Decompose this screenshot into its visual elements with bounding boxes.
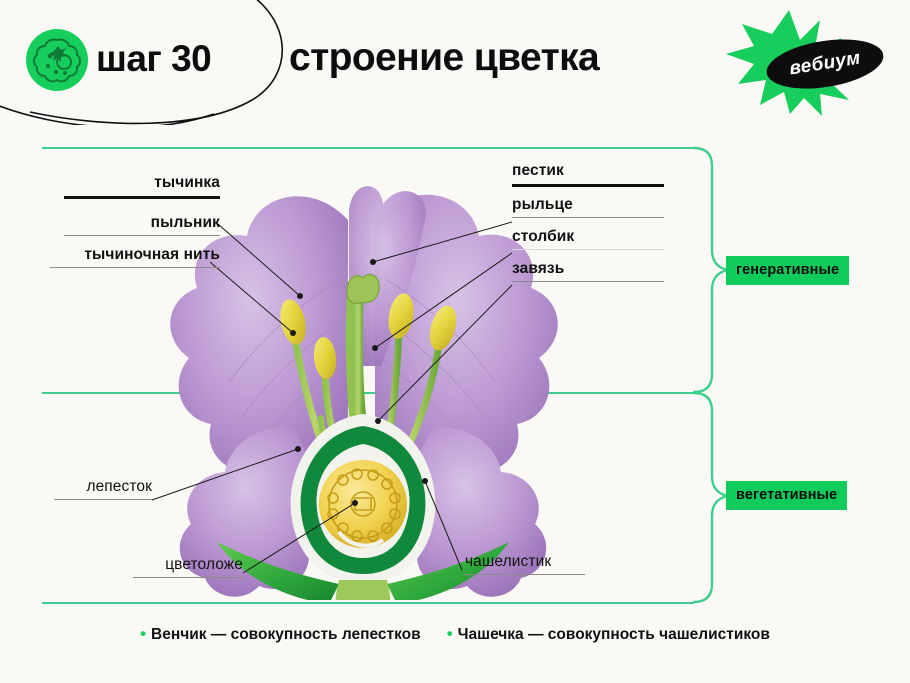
callout-sepal-label: чашелистик (465, 553, 551, 570)
step-label: шаг 30 (96, 38, 211, 80)
footer-note-corolla: • Венчик — совокупность лепестков (140, 625, 421, 644)
frame-rule-bottom (42, 602, 694, 604)
callout-receptacle: цветоложе (133, 556, 243, 578)
badge-vegetative: вегетативные (726, 481, 847, 510)
callout-petal-rule (54, 499, 152, 500)
callout-stigma-rule (512, 217, 664, 218)
callout-filament-label: тычиночная нить (84, 246, 220, 263)
callout-petal-label: лепесток (86, 478, 152, 495)
slide-root: шаг 30 строение цветка вебиум (0, 0, 910, 683)
callout-petal: лепесток (54, 478, 152, 500)
callout-anther: пыльник (64, 214, 220, 236)
callout-pistil-rule (512, 184, 664, 187)
cell-icon (26, 29, 88, 91)
callout-receptacle-rule (133, 577, 243, 578)
callout-anther-label: пыльник (151, 214, 220, 231)
callout-stamen-rule (64, 196, 220, 199)
brand-logo[interactable]: вебиум (716, 8, 891, 116)
callout-style-label: столбик (512, 228, 574, 245)
badge-generative-label: генеративные (736, 262, 839, 278)
callout-ovary-label: завязь (512, 260, 564, 277)
footer-note-corolla-text: Венчик — совокупность лепестков (151, 626, 421, 644)
callout-pistil-label: пестик (512, 162, 564, 179)
callout-sepal: чашелистик (465, 553, 585, 575)
badge-vegetative-label: вегетативные (736, 487, 837, 503)
slide-header: шаг 30 строение цветка вебиум (0, 0, 910, 125)
frame-rule-top (42, 147, 694, 149)
callout-style: столбик (512, 228, 664, 250)
footer-notes: • Венчик — совокупность лепестков • Чаше… (0, 625, 910, 644)
callout-stamen: тычинка (64, 174, 220, 199)
callout-stamen-label: тычинка (154, 174, 220, 191)
callout-pistil: пестик (512, 162, 664, 187)
callout-stigma-label: рыльце (512, 196, 573, 213)
bullet-icon: • (140, 625, 146, 642)
page-title: строение цветка (289, 36, 599, 80)
callout-receptacle-label: цветоложе (165, 556, 243, 573)
callout-filament: тычиночная нить (50, 246, 220, 268)
callout-filament-rule (50, 267, 220, 268)
callout-stigma: рыльце (512, 196, 664, 218)
callout-style-rule (512, 249, 664, 250)
callout-ovary-rule (512, 281, 664, 282)
callout-ovary: завязь (512, 260, 664, 282)
footer-note-calyx-text: Чашечка — совокупность чашелистиков (458, 626, 770, 644)
bullet-icon: • (447, 625, 453, 642)
badge-generative: генеративные (726, 256, 849, 285)
footer-note-calyx: • Чашечка — совокупность чашелистиков (447, 625, 770, 644)
callout-anther-rule (64, 235, 220, 236)
callout-sepal-rule (465, 574, 585, 575)
